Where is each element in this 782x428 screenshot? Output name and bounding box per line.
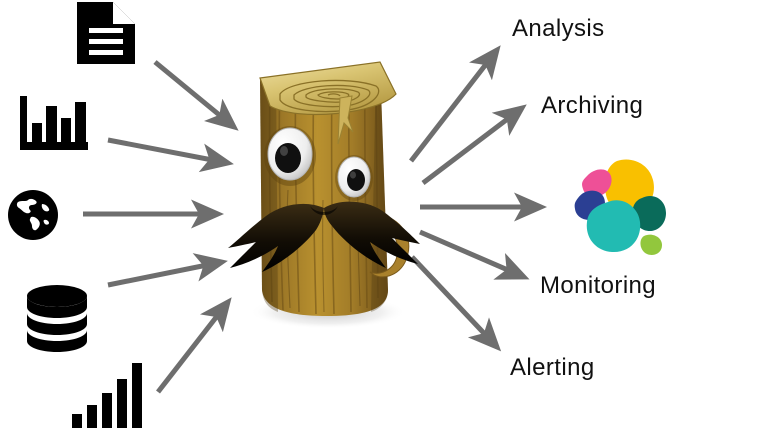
log-splinter: [338, 96, 353, 144]
elastic-petal-yellow: [605, 160, 654, 214]
graylog-mascot: [228, 40, 418, 340]
elastic-logo-icon: [570, 158, 670, 256]
diagram-canvas: Analysis Archiving Monitoring Alerting: [0, 0, 782, 428]
elastic-petal-teal: [587, 200, 640, 252]
log-rings: [280, 80, 379, 111]
mascot-eyes: [264, 126, 373, 201]
arrow-graylog-to-analysis: [411, 50, 497, 161]
mascot-tail: [370, 215, 409, 277]
arrow-graylog-to-alerting: [412, 257, 497, 347]
log-top-cut: [260, 62, 396, 115]
arrow-chart-to-graylog: [108, 140, 228, 163]
output-label-analysis: Analysis: [512, 17, 605, 41]
arrow-signal-to-graylog: [158, 302, 228, 392]
elastic-petal-blue: [575, 191, 605, 220]
output-label-archiving: Archiving: [541, 94, 643, 118]
arrow-document-to-graylog: [155, 62, 234, 127]
arrow-graylog-to-archiving: [423, 108, 522, 183]
elastic-petal-lightgreen: [640, 235, 662, 255]
arrow-graylog-to-monitoring: [420, 232, 524, 277]
output-label-monitoring: Monitoring: [540, 274, 656, 298]
output-label-alerting: Alerting: [510, 356, 595, 380]
left-pupil: [275, 143, 301, 173]
mascot-shadow: [250, 295, 406, 329]
arrow-database-to-graylog: [108, 262, 222, 285]
wood-grain: [270, 66, 378, 314]
elastic-petal-pink: [582, 169, 612, 196]
elastic-petal-darkgreen: [632, 196, 666, 231]
mascot-body: [260, 62, 388, 316]
right-pupil: [347, 169, 365, 191]
mascot-mustache: [228, 204, 324, 272]
